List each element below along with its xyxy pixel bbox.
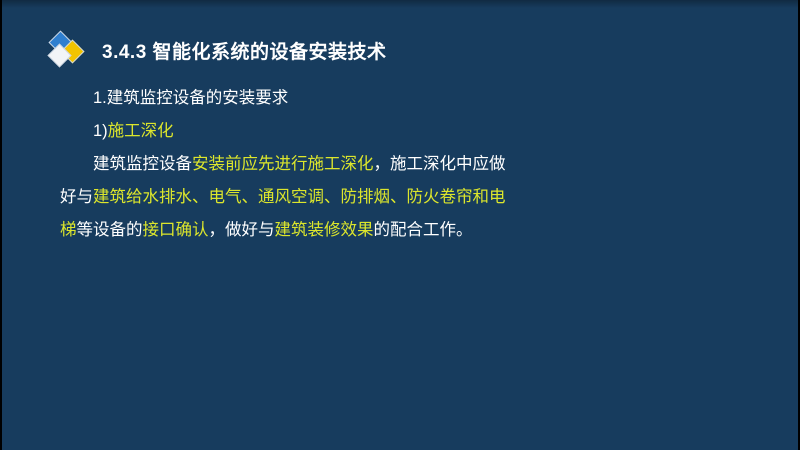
text-run-paragraph-line-3-3: ，做好与 [209, 221, 275, 239]
body-line-paragraph-line-3: 梯等设备的接口确认，做好与建筑装修效果的配合工作。 [60, 214, 620, 247]
slide-canvas: 3.4.3 智能化系统的设备安装技术 1.建筑监控设备的安装要求 1)施工深化 … [0, 0, 800, 450]
background-top-shade [2, 0, 798, 8]
text-run-paragraph-line-3-4: 建筑装修效果 [275, 221, 374, 239]
body-line-heading-1: 1.建筑监控设备的安装要求 [60, 82, 620, 115]
text-run-paragraph-line-3-0: 梯 [60, 221, 77, 239]
text-run-paragraph-line-1-2: ，施工深化中应做 [374, 155, 506, 173]
text-run-heading-1-0: 1.建筑监控设备的安装要求 [93, 89, 288, 107]
three-diamonds-icon [48, 31, 90, 69]
text-run-paragraph-line-2-0: 好与 [60, 188, 93, 206]
text-run-paragraph-line-1-1: 安装前应先进行施工深化 [192, 155, 374, 173]
body-line-paragraph-line-1: 建筑监控设备安装前应先进行施工深化，施工深化中应做 [60, 148, 620, 181]
text-run-paragraph-line-2-1: 建筑给水排水、电气、通风空调、防排烟、防火卷帘和电 [93, 188, 506, 206]
page-title: 3.4.3 智能化系统的设备安装技术 [102, 37, 387, 64]
text-run-paragraph-line-1-0: 建筑监控设备 [93, 155, 192, 173]
text-run-paragraph-line-3-2: 接口确认 [143, 221, 209, 239]
slide-title-row: 3.4.3 智能化系统的设备安装技术 [48, 30, 387, 70]
body-line-heading-2: 1)施工深化 [60, 115, 620, 148]
slide-body: 1.建筑监控设备的安装要求 1)施工深化 建筑监控设备安装前应先进行施工深化，施… [60, 82, 620, 247]
text-run-heading-2-1: 施工深化 [108, 122, 174, 140]
text-run-heading-2-0: 1) [93, 122, 108, 140]
body-line-paragraph-line-2: 好与建筑给水排水、电气、通风空调、防排烟、防火卷帘和电 [60, 181, 620, 214]
text-run-paragraph-line-3-1: 等设备的 [77, 221, 143, 239]
text-run-paragraph-line-3-5: 的配合工作。 [374, 221, 473, 239]
